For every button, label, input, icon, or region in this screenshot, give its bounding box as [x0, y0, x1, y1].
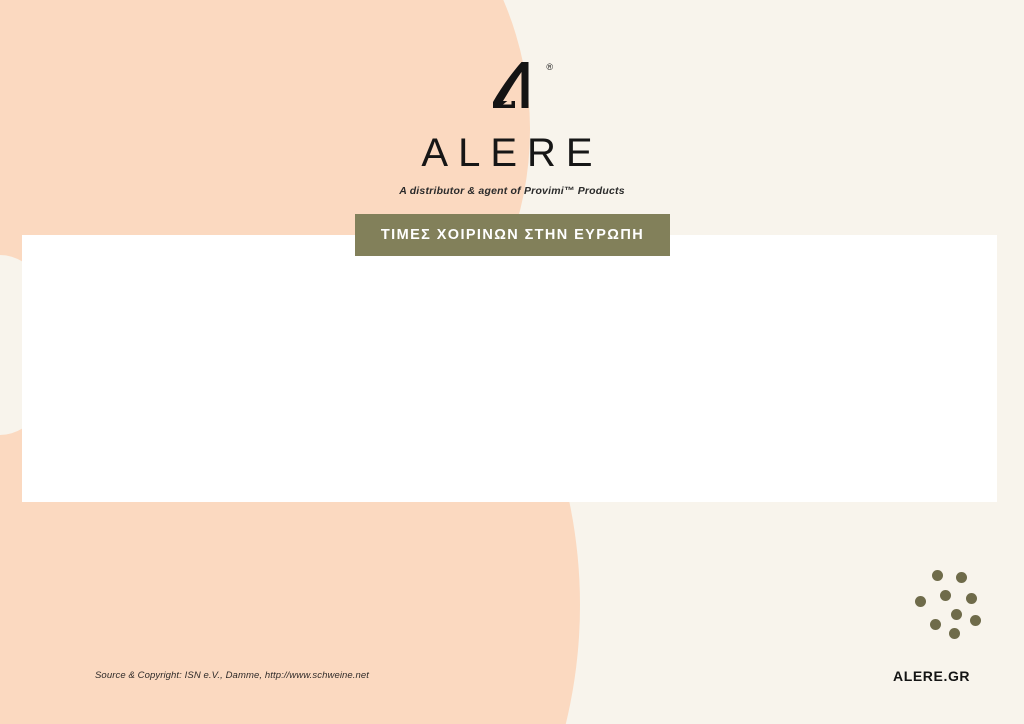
- page-title: ΤΙΜΕΣ ΧΟΙΡΙΝΩΝ ΣΤΗΝ ΕΥΡΩΠΗ: [355, 214, 670, 256]
- brand-tagline: A distributor & agent of Provimi™ Produc…: [0, 185, 1024, 197]
- tables-panel: [22, 235, 997, 502]
- brand-header: ® ALERE A distributor & agent of Provimi…: [0, 60, 1024, 197]
- source-credit: Source & Copyright: ISN e.V., Damme, htt…: [95, 670, 369, 681]
- background-peach-block-bottom: [0, 470, 120, 724]
- registered-trademark-icon: ®: [546, 62, 553, 72]
- nine-dots-pattern-icon: [915, 568, 987, 640]
- brand-name: ALERE: [0, 131, 1024, 176]
- website-label: ALERE.GR: [893, 668, 970, 684]
- poster-canvas: ® ALERE A distributor & agent of Provimi…: [0, 0, 1024, 724]
- alere-a-mark-icon: ®: [481, 60, 543, 112]
